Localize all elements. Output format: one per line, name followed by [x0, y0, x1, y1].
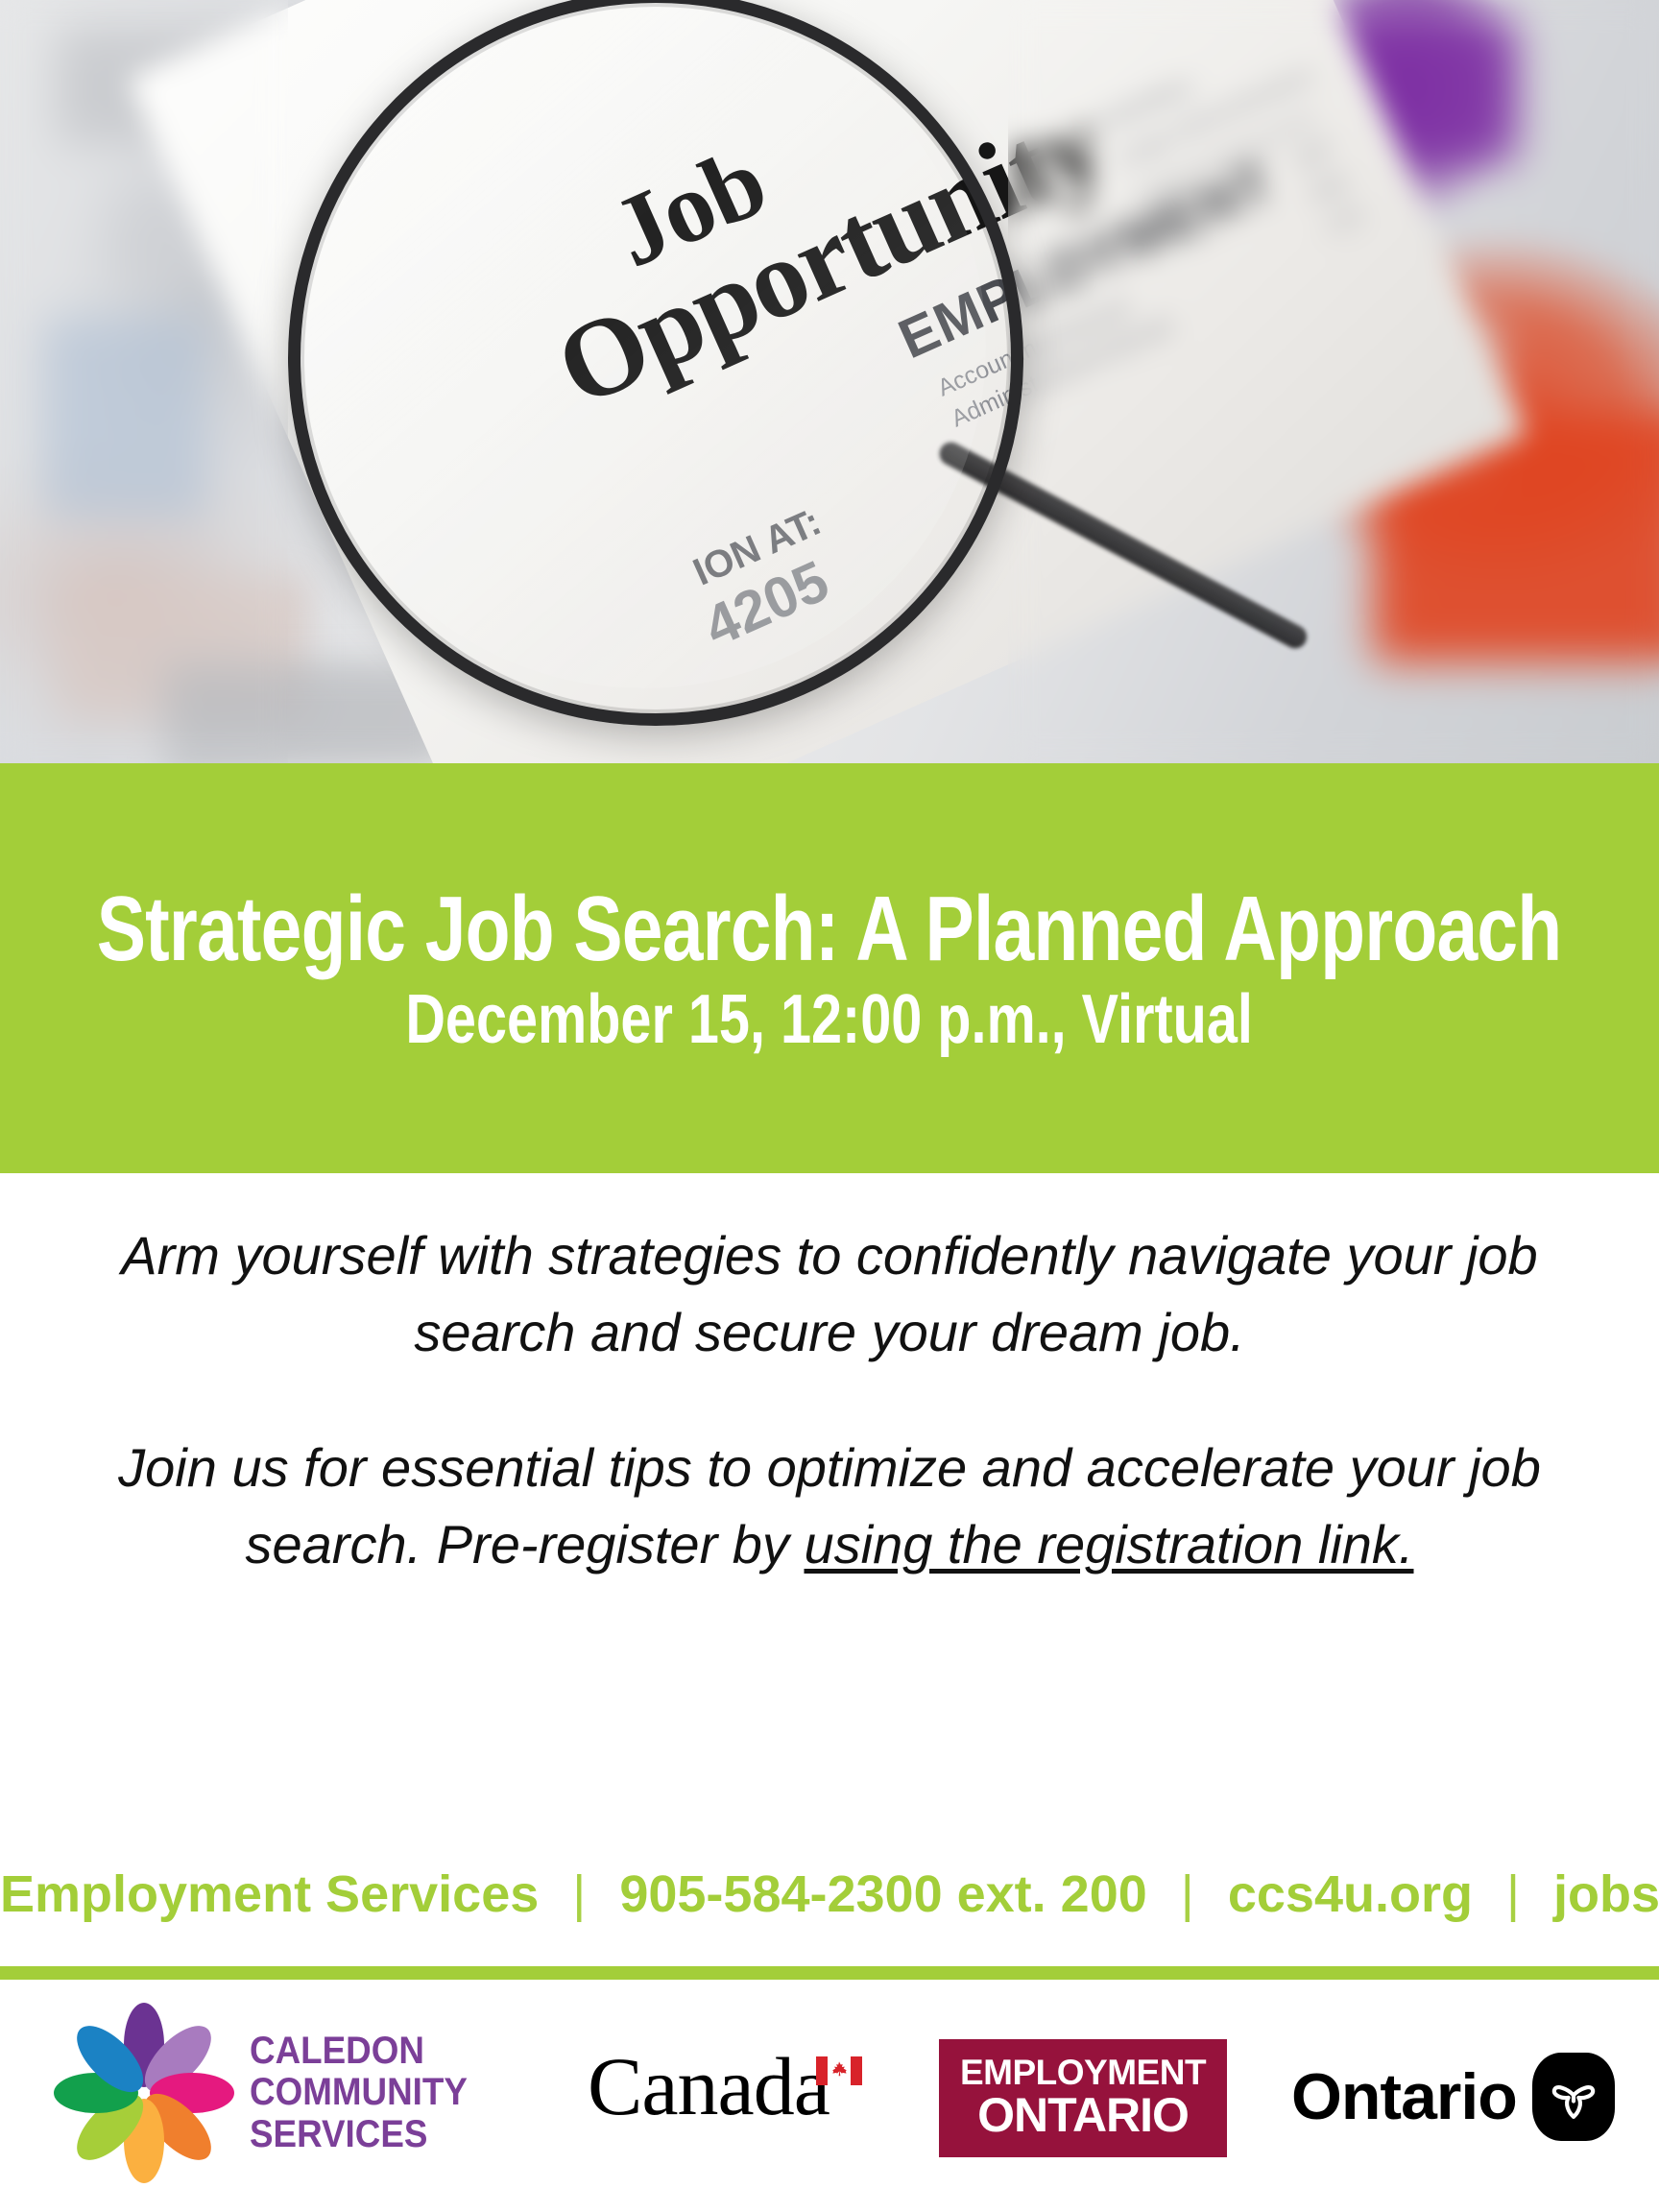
- employment-ontario-line2: ONTARIO: [960, 2090, 1206, 2140]
- ontario-logo: Ontario: [1291, 2053, 1615, 2141]
- title-band: Strategic Job Search: A Planned Approach…: [0, 763, 1659, 1173]
- ccs-name-line3: SERVICES: [250, 2114, 468, 2155]
- footer-logos: CALEDON COMMUNITY SERVICES Canada EMPLOY…: [0, 1980, 1659, 2212]
- ccs-name-line2: COMMUNITY: [250, 2072, 468, 2113]
- contact-separator: |: [1506, 1864, 1520, 1924]
- contact-department: Employment Services: [0, 1865, 539, 1923]
- employment-ontario-line1: EMPLOYMENT: [960, 2055, 1206, 2090]
- registration-link[interactable]: using the registration link.: [804, 1514, 1413, 1575]
- contact-email[interactable]: jobs@ccs4u.org: [1553, 1865, 1659, 1923]
- ccs-name-line1: CALEDON: [250, 2031, 468, 2072]
- ccs-wordmark: CALEDON COMMUNITY SERVICES: [250, 2031, 468, 2155]
- body-paragraph-2: Join us for essential tips to optimize a…: [96, 1430, 1563, 1582]
- contact-separator: |: [1181, 1864, 1194, 1924]
- maple-leaf-icon: [829, 2059, 850, 2082]
- canada-wordmark-logo: Canada: [588, 2049, 862, 2125]
- event-datetime: December 15, 12:00 p.m., Virtual: [406, 985, 1254, 1054]
- ontario-wordmark: Ontario: [1291, 2064, 1517, 2129]
- canada-wordmark: Canada: [588, 2049, 829, 2125]
- flower-icon: [50, 1999, 238, 2187]
- hero-image: Job Opportunity EMPLOYMENT ION AT: 4205 …: [0, 0, 1659, 763]
- contact-separator: |: [572, 1864, 586, 1924]
- photo-blur-right: [1008, 0, 1659, 763]
- contact-phone[interactable]: 905-584-2300 ext. 200: [619, 1865, 1146, 1923]
- page-title: Strategic Job Search: A Planned Approach: [97, 883, 1562, 975]
- trillium-icon: [1546, 2069, 1601, 2125]
- green-divider: [0, 1966, 1659, 1980]
- photo-blur-left: [0, 0, 288, 763]
- body-paragraph-1: Arm yourself with strategies to confiden…: [96, 1217, 1563, 1370]
- contact-bar: Employment Services | 905-584-2300 ext. …: [0, 1864, 1659, 1924]
- contact-website[interactable]: ccs4u.org: [1228, 1865, 1473, 1923]
- employment-ontario-logo: EMPLOYMENT ONTARIO: [939, 2039, 1227, 2157]
- caledon-community-services-logo: CALEDON COMMUNITY SERVICES: [50, 1999, 487, 2187]
- canada-flag-icon: [816, 2056, 862, 2085]
- trillium-badge: [1532, 2053, 1615, 2141]
- body-copy: Arm yourself with strategies to confiden…: [96, 1217, 1563, 1582]
